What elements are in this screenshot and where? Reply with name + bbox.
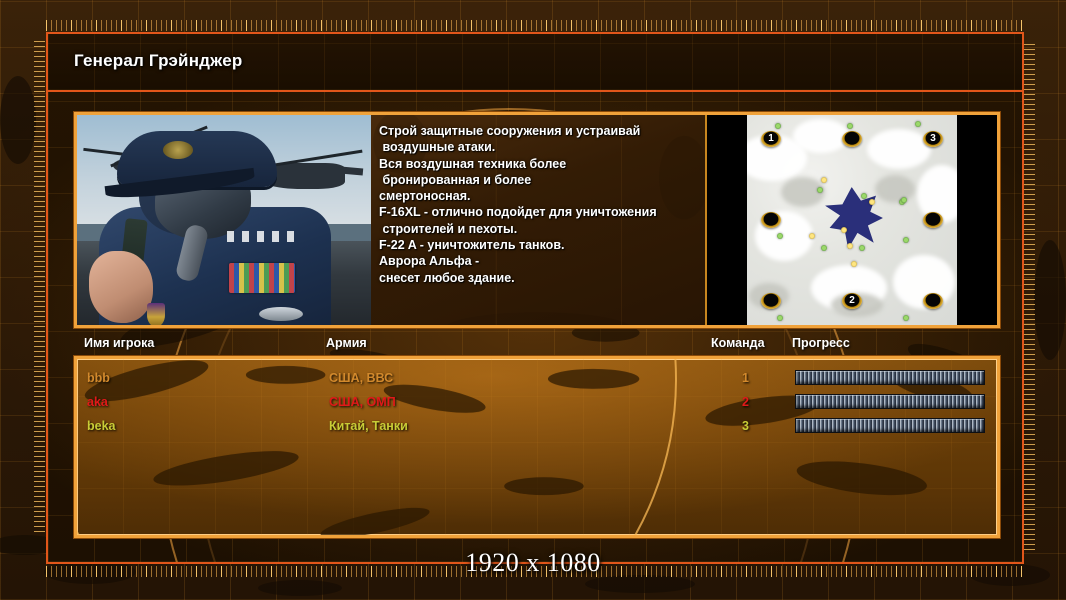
player-progress-bar — [795, 370, 985, 385]
officer-cap-insignia — [163, 141, 193, 159]
officer-wings-badge — [259, 307, 303, 321]
minimap-resource-marker — [903, 237, 909, 243]
minimap-resource-marker — [847, 243, 853, 249]
general-description-text: Строй защитные сооружения и устраивай во… — [379, 123, 697, 286]
player-army: США, ВВС — [329, 371, 393, 385]
resolution-label: 1920 x 1080 — [0, 548, 1066, 578]
officer-hand — [89, 251, 153, 323]
table-row[interactable]: akaСША, ОМП2 — [77, 391, 997, 415]
general-select-dialog: Генерал Грэйнджер — [46, 32, 1024, 564]
minimap-resource-marker — [821, 245, 827, 251]
general-description-panel: Строй защитные сооружения и устраивай во… — [371, 115, 705, 325]
minimap-spawn-point — [761, 293, 781, 309]
player-table-panel: bbbСША, ВВС1akaСША, ОМП2bekaКитай, Танки… — [74, 356, 1000, 538]
player-team: 2 — [742, 395, 749, 409]
player-army: США, ОМП — [329, 395, 396, 409]
player-team: 3 — [742, 419, 749, 433]
minimap-resource-marker — [851, 261, 857, 267]
minimap-resource-marker — [859, 245, 865, 251]
minimap-image[interactable]: 132 — [747, 115, 957, 325]
table-row[interactable]: bekaКитай, Танки3 — [77, 415, 997, 439]
minimap-spawn-point — [923, 212, 943, 228]
minimap-resource-marker — [777, 233, 783, 239]
column-header-team: Команда — [711, 336, 765, 350]
column-header-army: Армия — [326, 336, 367, 350]
player-army: Китай, Танки — [329, 419, 408, 433]
dialog-titlebar: Генерал Грэйнджер — [48, 34, 1022, 92]
minimap-resource-marker — [777, 315, 783, 321]
player-progress-bar — [795, 418, 985, 433]
minimap-resource-marker — [817, 187, 823, 193]
minimap-resource-marker — [901, 197, 907, 203]
minimap-spawn-point — [761, 212, 781, 228]
page-title: Генерал Грэйнджер — [74, 51, 242, 71]
minimap-resource-marker — [869, 199, 875, 205]
minimap-resource-marker — [775, 123, 781, 129]
general-portrait — [77, 115, 371, 325]
ruler-right — [1024, 40, 1035, 550]
minimap-resource-marker — [861, 193, 867, 199]
map-preview[interactable]: 132 — [705, 115, 997, 325]
player-name: bbb — [87, 371, 110, 385]
minimap-spawn-point: 3 — [923, 131, 943, 147]
minimap-resource-marker — [915, 121, 921, 127]
player-table-headers: Имя игрока Армия Команда Прогресс — [74, 336, 1000, 358]
officer-rank-stars — [227, 231, 301, 242]
table-row[interactable]: bbbСША, ВВС1 — [77, 367, 997, 391]
player-name: aka — [87, 395, 108, 409]
minimap-resource-marker — [821, 177, 827, 183]
minimap-spawn-point: 2 — [842, 293, 862, 309]
minimap-resource-marker — [903, 315, 909, 321]
player-name: beka — [87, 419, 116, 433]
minimap-resource-marker — [847, 123, 853, 129]
ruler-left — [34, 40, 45, 532]
minimap-lake — [825, 187, 883, 249]
general-info-panel: Строй защитные сооружения и устраивай во… — [74, 112, 1000, 328]
minimap-resource-marker — [841, 227, 847, 233]
player-team: 1 — [742, 371, 749, 385]
minimap-spawn-point: 1 — [761, 131, 781, 147]
game-menu-screen: Генерал Грэйнджер — [0, 0, 1066, 600]
ruler-top — [46, 20, 1024, 31]
officer-ribbon-rack — [229, 263, 295, 293]
officer-medal — [147, 303, 165, 325]
minimap-resource-marker — [809, 233, 815, 239]
minimap-spawn-point — [842, 131, 862, 147]
column-header-name: Имя игрока — [84, 336, 154, 350]
player-progress-bar — [795, 394, 985, 409]
minimap-spawn-point — [923, 293, 943, 309]
column-header-progress: Прогресс — [792, 336, 850, 350]
